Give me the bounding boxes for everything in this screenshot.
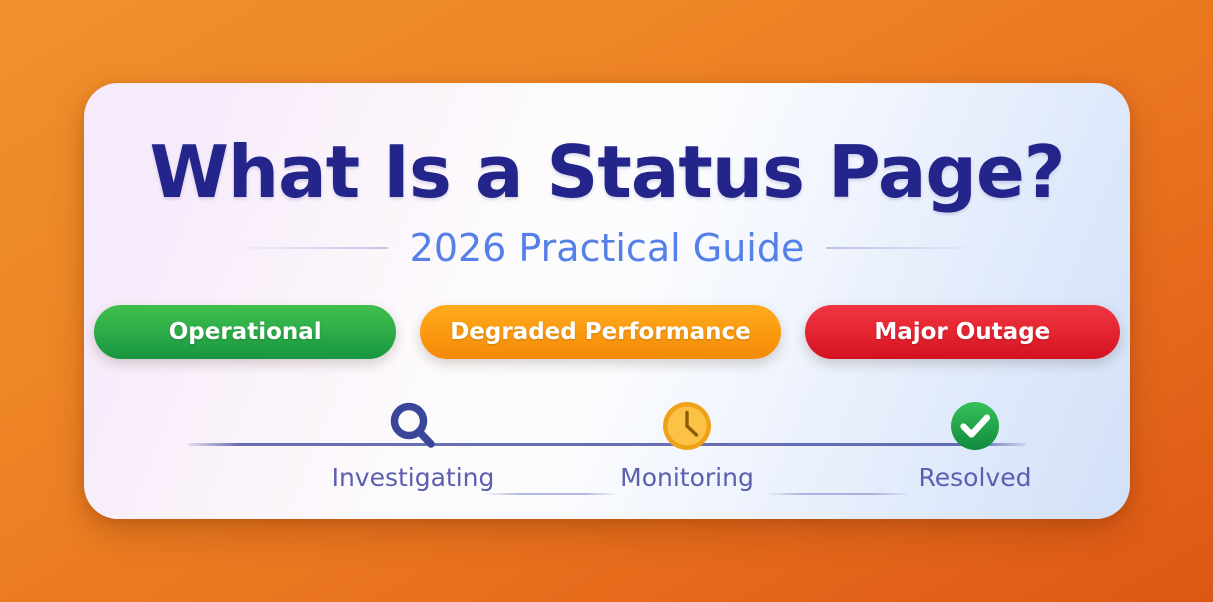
badge-degraded-performance[interactable]: Degraded Performance (420, 305, 781, 359)
subtitle-block: 2026 Practical Guide (84, 229, 1130, 267)
magnifier-icon (384, 395, 442, 457)
status-badge-row: Operational Degraded Performance Major O… (84, 305, 1130, 359)
badge-degraded-performance-label: Degraded Performance (450, 319, 751, 345)
poster-canvas: What Is a Status Page? 2026 Practical Gu… (0, 0, 1213, 602)
timeline-step-resolved-label: Resolved (919, 465, 1032, 490)
clock-icon (660, 395, 714, 457)
timeline-step-resolved[interactable]: Resolved (885, 395, 1065, 490)
page-subtitle: 2026 Practical Guide (410, 229, 805, 267)
title-block: What Is a Status Page? (84, 136, 1130, 208)
timeline-step-investigating[interactable]: Investigating (323, 395, 503, 490)
subtitle-rule-right (826, 247, 984, 249)
timeline-connector-1 (486, 493, 616, 495)
timeline-step-monitoring-label: Monitoring (620, 465, 754, 490)
incident-timeline: Investigating Monitoring (188, 395, 1026, 495)
badge-operational[interactable]: Operational (94, 305, 396, 359)
subtitle-rule-left (230, 247, 388, 249)
check-circle-icon (948, 395, 1002, 457)
badge-major-outage-label: Major Outage (874, 319, 1050, 345)
timeline-step-investigating-label: Investigating (332, 465, 495, 490)
timeline-step-monitoring[interactable]: Monitoring (597, 395, 777, 490)
timeline-connector-2 (768, 493, 908, 495)
badge-major-outage[interactable]: Major Outage (805, 305, 1120, 359)
page-title: What Is a Status Page? (84, 136, 1130, 208)
badge-operational-label: Operational (169, 319, 322, 345)
status-page-card: What Is a Status Page? 2026 Practical Gu… (84, 83, 1130, 519)
